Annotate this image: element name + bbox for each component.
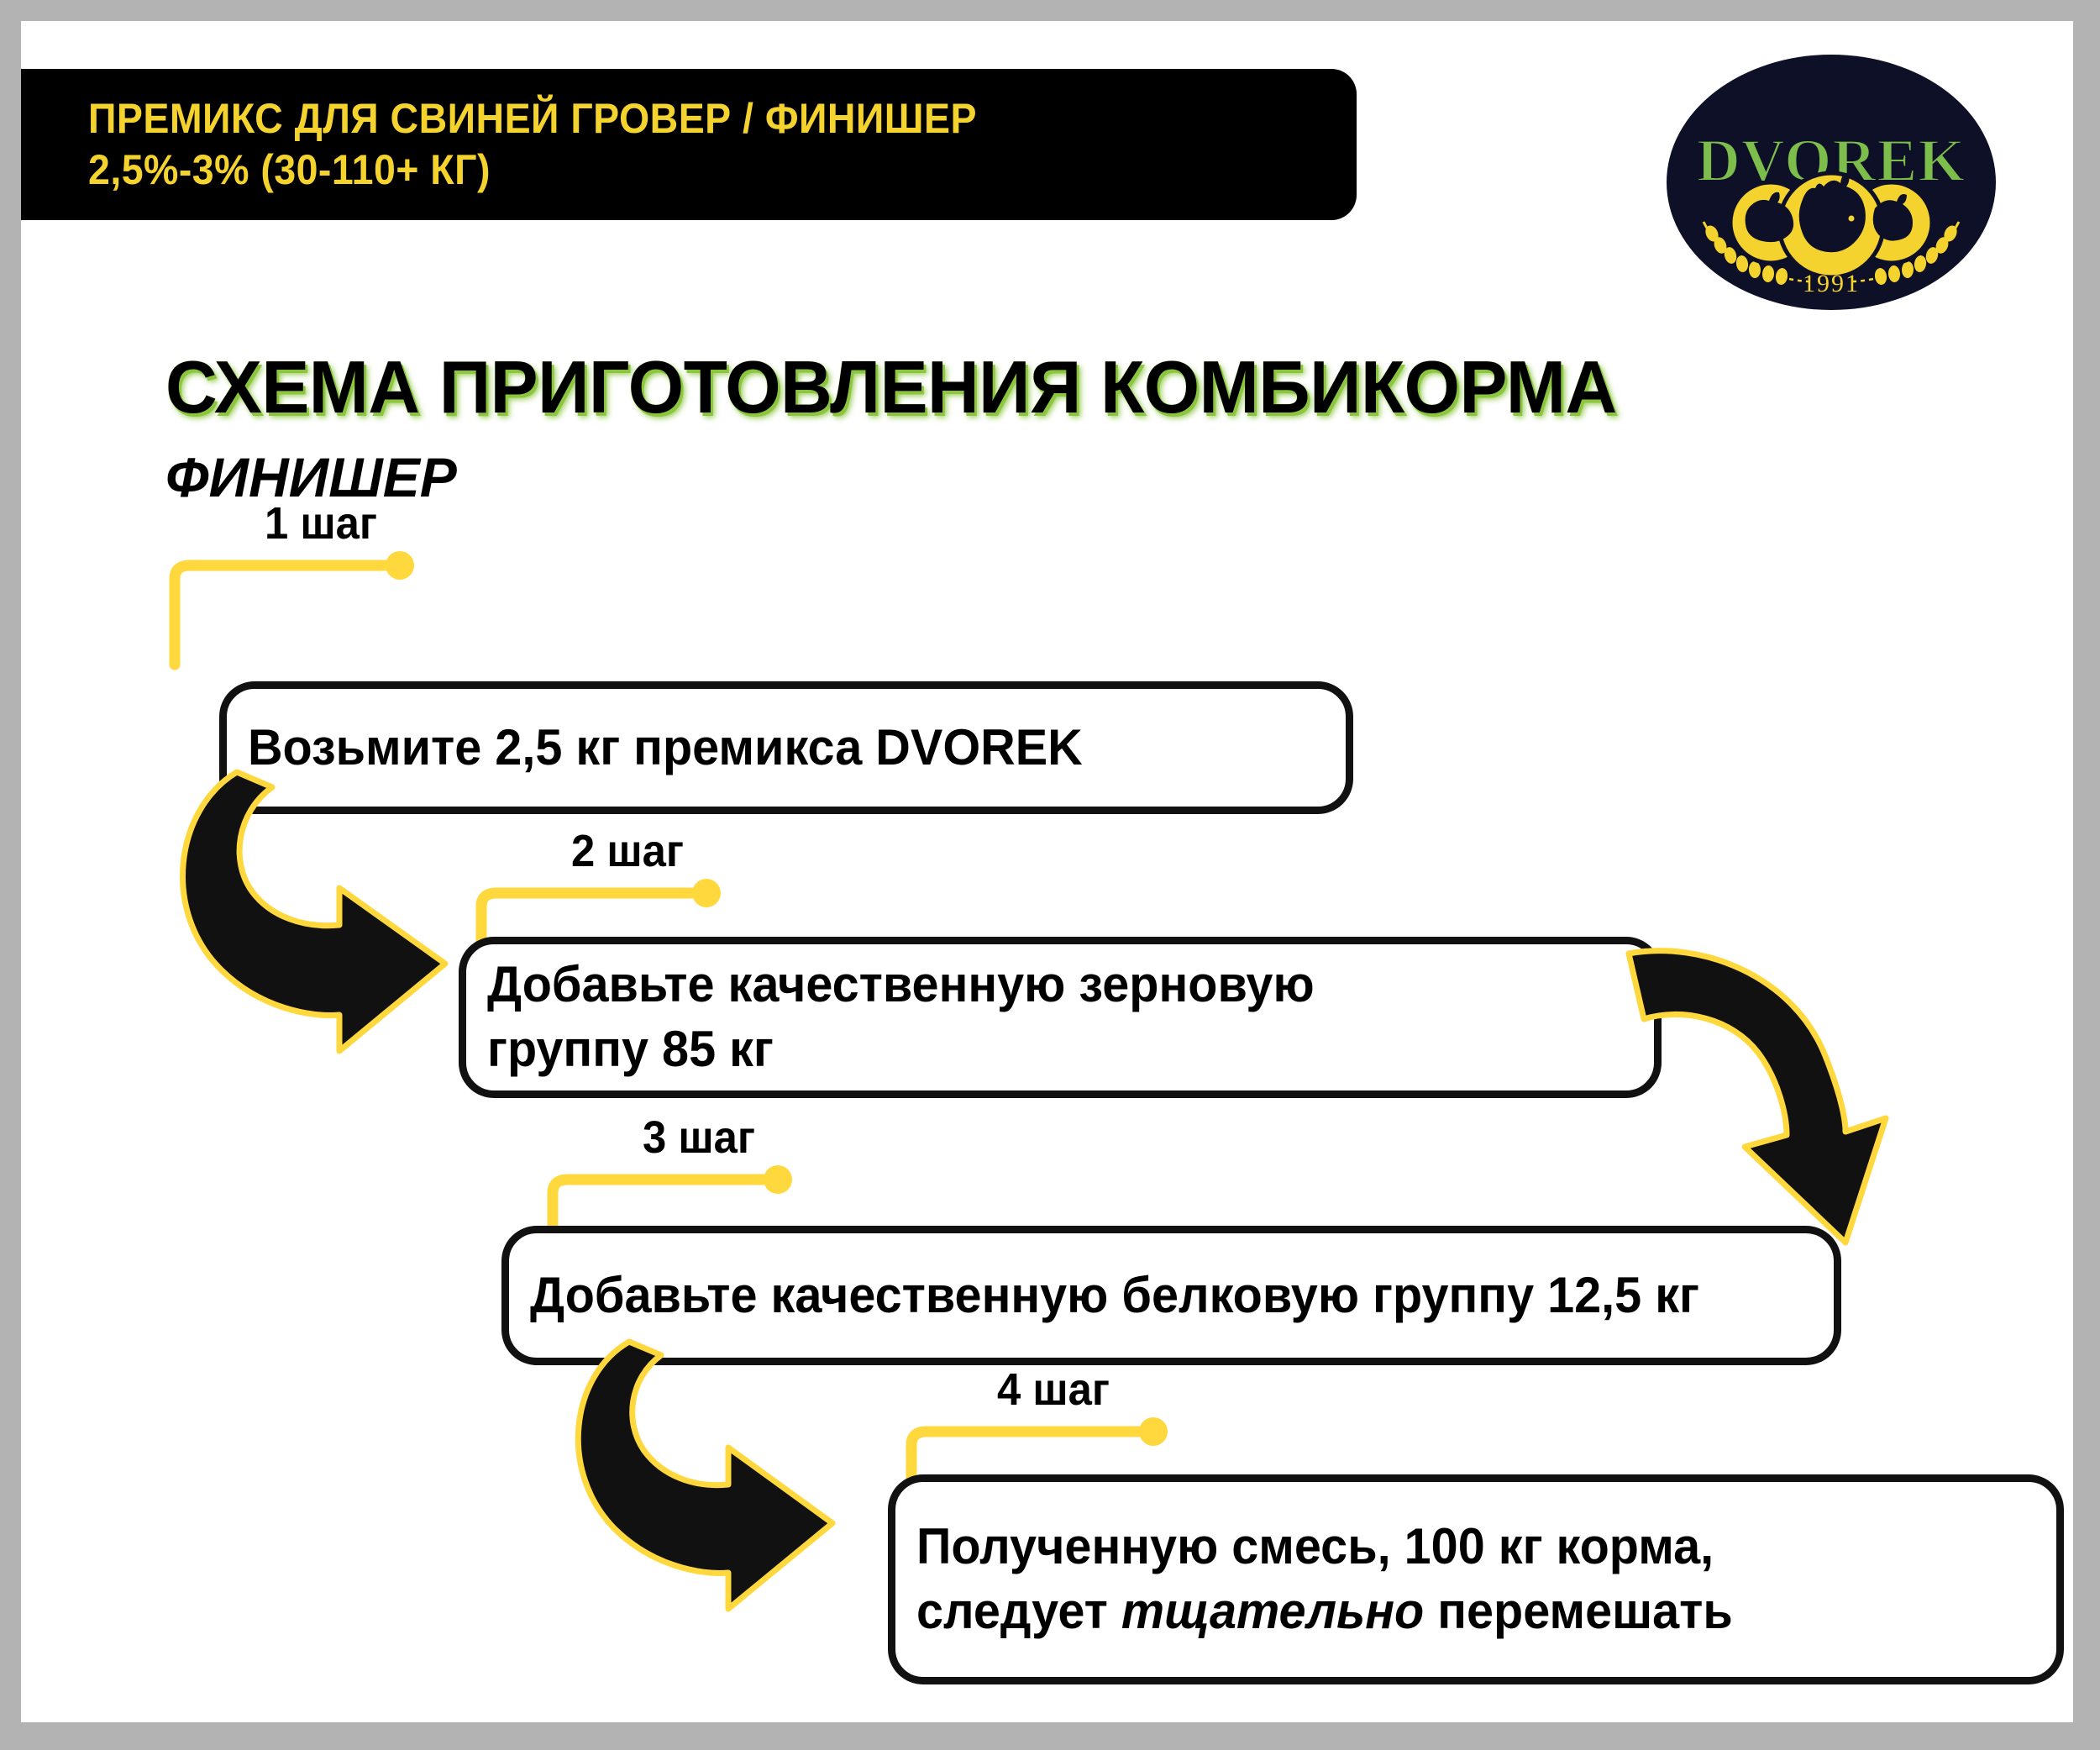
step-box-2: Добавьте качественную зерновую группу 85… [459,937,1662,1098]
dvorek-logo: DVOREK 1991 [1663,50,1999,315]
header-line-2: 2,5%-3% (30-110+ КГ) [88,145,1268,196]
poster-canvas: ПРЕМИКС ДЛЯ СВИНЕЙ ГРОВЕР / ФИНИШЕР 2,5%… [21,21,2073,1722]
connector-dot-icon [1139,1417,1168,1446]
step-label-3: 3 шаг [643,1111,755,1164]
logo-year-text: 1991 [1803,270,1860,297]
animal-medallions-icon [1730,173,1932,277]
step-text-4-part2: перемешать [1424,1583,1733,1639]
connector-dot-icon [386,551,414,580]
step-label-1: 1 шаг [265,497,377,549]
step-text-2: Добавьте качественную зерновую группу 85… [466,953,1336,1082]
header-line-1: ПРЕМИКС ДЛЯ СВИНЕЙ ГРОВЕР / ФИНИШЕР [88,93,1268,145]
step-text-4-emphasis: тщательно [1121,1583,1424,1639]
arrow-step2-to-step3 [1600,920,1953,1248]
step-connector-1 [168,555,428,665]
step-label-2: 2 шаг [571,825,684,877]
arrow-step3-to-step4 [559,1338,911,1616]
step-box-4: Полученную смесь, 100 кг корма, следует … [888,1474,2064,1684]
connector-dot-icon [764,1165,792,1194]
step-label-4: 4 шаг [997,1364,1110,1416]
header-banner: ПРЕМИКС ДЛЯ СВИНЕЙ ГРОВЕР / ФИНИШЕР 2,5%… [21,69,1357,220]
page-title: СХЕМА ПРИГОТОВЛЕНИЯ КОМБИКОРМА [165,344,1617,430]
step-text-4: Полученную смесь, 100 кг корма, следует … [895,1515,1754,1644]
connector-dot-icon [692,879,721,907]
step-text-3: Добавьте качественную белковую группу 12… [509,1264,1720,1328]
